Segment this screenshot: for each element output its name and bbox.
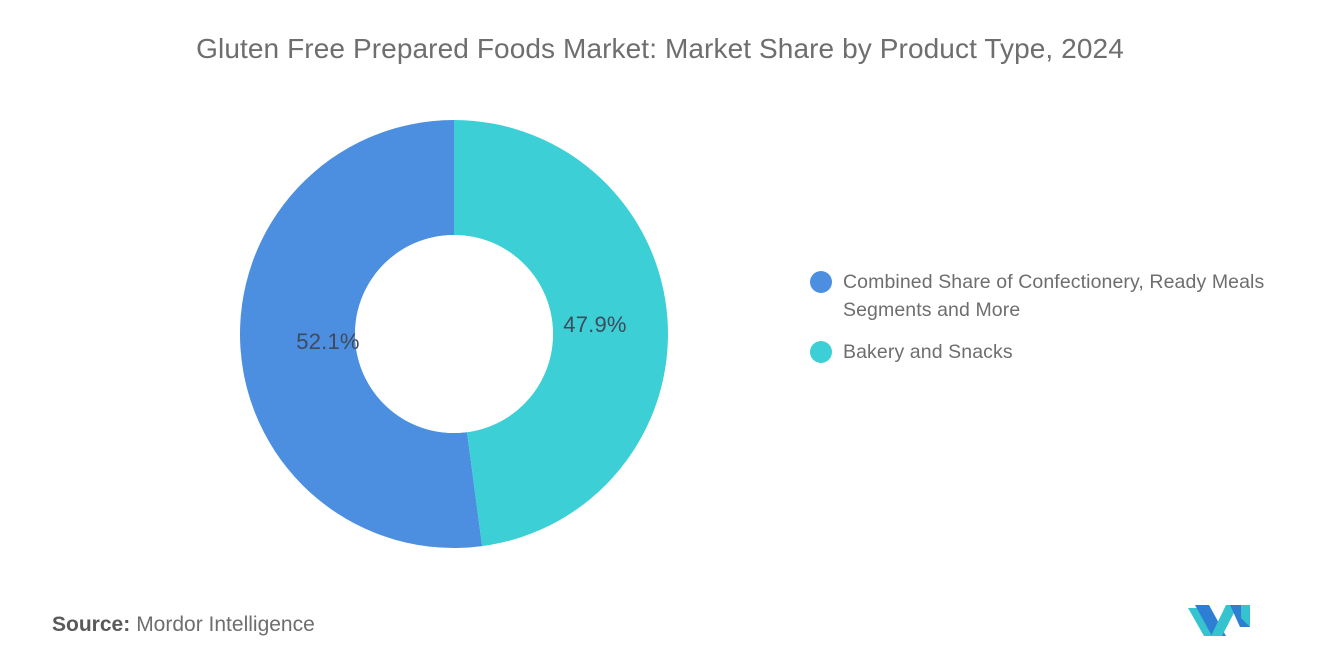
legend-label-combined-share: Combined Share of Confectionery, Ready M… (843, 268, 1280, 324)
donut-chart-figure: Gluten Free Prepared Foods Market: Marke… (0, 0, 1320, 665)
legend-swatch-icon-bakery-snacks (810, 341, 832, 363)
legend-item-bakery-snacks[interactable]: Bakery and Snacks (810, 338, 1280, 366)
legend-item-combined-share[interactable]: Combined Share of Confectionery, Ready M… (810, 268, 1280, 324)
chart-legend: Combined Share of Confectionery, Ready M… (810, 268, 1280, 380)
slice-value-label-bakery-snacks: 47.9% (535, 312, 655, 338)
legend-label-bakery-snacks: Bakery and Snacks (843, 338, 1013, 366)
chart-title: Gluten Free Prepared Foods Market: Marke… (0, 30, 1320, 68)
source-prefix-label: Source: (52, 613, 130, 636)
mordor-intelligence-logo-icon (1186, 600, 1252, 638)
slice-value-label-combined-share: 52.1% (268, 329, 388, 355)
source-attribution: Source:Mordor Intelligence (52, 613, 315, 637)
legend-swatch-icon-combined-share (810, 271, 832, 293)
logo-svg (1186, 600, 1252, 638)
donut-plot-area: 52.1% 47.9% (240, 120, 668, 548)
source-value-label: Mordor Intelligence (136, 613, 315, 636)
